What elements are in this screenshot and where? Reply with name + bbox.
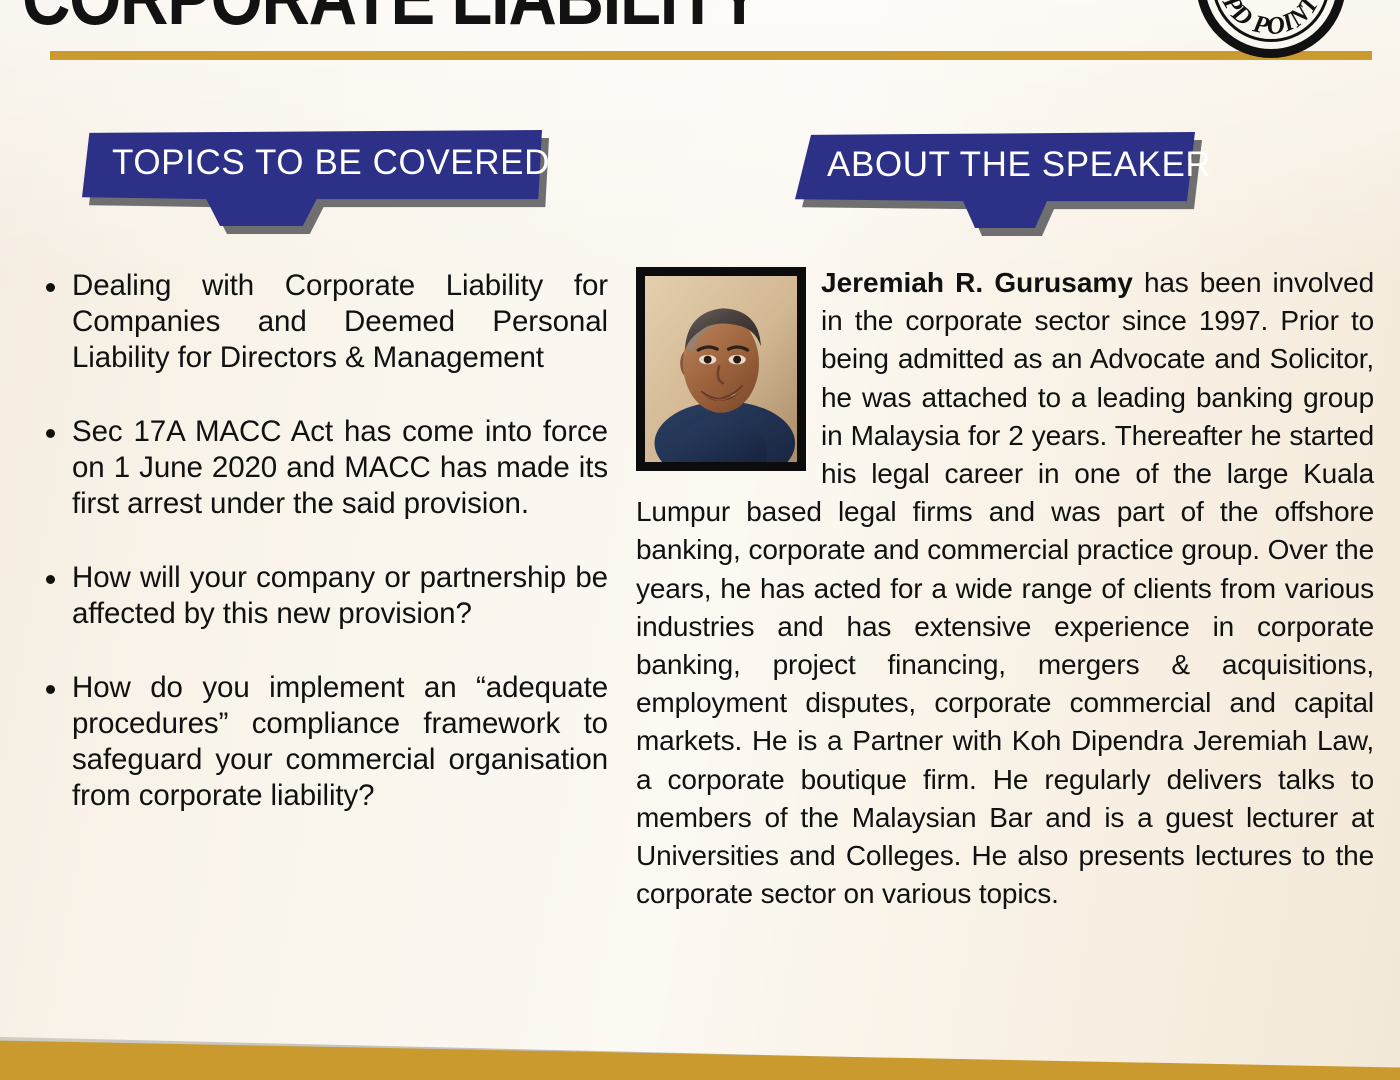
pd-point-stamp-icon: PD POINT [1196,0,1346,58]
banner-speaker-label: ABOUT THE SPEAKER [795,132,1227,198]
banner-topics-to-be-covered: TOPICS TO BE COVERED [82,130,542,226]
banner-about-the-speaker: ABOUT THE SPEAKER [795,132,1195,228]
avatar [636,267,806,471]
list-item: Sec 17A MACC Act has come into force on … [38,414,608,522]
list-item: Dealing with Corporate Liability for Com… [38,268,608,376]
speaker-bio-block: Jeremiah R. Gurusamy has been involved i… [636,264,1374,913]
list-item: How do you implement an “adequate proced… [38,670,608,814]
list-item: How will your company or partnership be … [38,560,608,632]
topics-list: Dealing with Corporate Liability for Com… [38,268,608,814]
header-gold-rule [50,51,1372,60]
banner-topics-label: TOPICS TO BE COVERED [82,130,572,196]
stamp-text-arc: PD POINT [1196,0,1346,58]
stamp-label: PD POINT [1216,0,1325,41]
speaker-portrait-image [645,276,797,462]
speaker-name: Jeremiah R. Gurusamy [821,267,1133,298]
slide-canvas: CORPORATE LIABILITY PD POINT TOPICS TO B… [0,0,1400,1080]
page-title: CORPORATE LIABILITY [22,0,760,36]
